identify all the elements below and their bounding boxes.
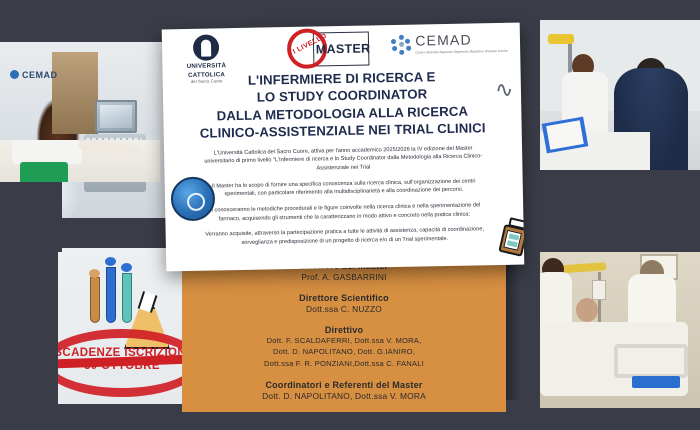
lab-bottom-band [58,404,186,430]
spacer [192,369,496,375]
patient-head [576,298,598,322]
photo-hospital-ward [540,20,700,172]
right-bottom-band [538,408,700,430]
arm-shape [77,140,140,158]
top-letterbox-band [0,0,700,20]
section-name-direttivo-1: Dott. F. SCALDAFERRI, Dott.ssa V. MORA, [192,336,496,346]
ward-equipment-bar [548,34,574,44]
section-heading-coordinatori: Coordinatori e Referenti del Master [192,380,496,390]
master-flyer-card: UNIVERSITÀ CATTOLICA del Sacro Cuore I L… [162,23,525,272]
stamp-line-2: 30 OTTOBRE [58,360,183,373]
stamp-ellipse [58,329,183,397]
flyer-header: UNIVERSITÀ CATTOLICA del Sacro Cuore I L… [162,23,521,76]
photo-wall-panel [52,52,98,134]
flyer-body-text: L'Università Cattolica del Sacro Cuore, … [164,143,524,249]
section-heading-direttore-scientifico: Direttore Scientifico [192,293,496,303]
flyer-paragraph-4: Verranno acquisite, attraverso la partec… [200,225,490,248]
spacer [192,314,496,320]
cemad-name: CEMAD [415,32,472,49]
cemad-logo: CEMAD Centro Malattie Apparato Digerente… [391,32,508,55]
photo-green-scrubs [0,140,160,182]
universita-cattolica-logo: UNIVERSITÀ CATTOLICA del Sacro Cuore [178,34,235,84]
university-seal-icon [193,34,219,60]
screenshot-canvas: CEMAD [0,0,700,430]
orange-staff-panel: Direttore del Master Prof. A. GASBARRINI… [182,250,506,412]
university-subtitle: del Sacro Cuore [179,78,235,84]
photo-lab-illustration: SCADENZE ISCRIZIONI 30 OTTOBRE [58,245,183,405]
cemad-watermark: CEMAD [10,70,58,80]
cemad-wordmark: CEMAD Centro Malattie Apparato Digerente… [415,32,508,55]
stamp-line-1: SCADENZE ISCRIZIONI [58,347,183,360]
test-tube-amber [90,277,100,323]
master-stamp-badge: I LIVELLO MASTER [285,25,382,71]
section-heading-direttivo: Direttivo [192,325,496,335]
lab-coat-shape [12,140,82,164]
spacer [192,282,496,288]
master-stamp-word: MASTER [315,41,371,56]
orange-panel-shadow [506,250,520,400]
bed-rail [614,344,688,378]
section-name-direttivo-3: Dott.ssa F. R. PONZIANI,Dott.ssa C. FANA… [192,359,496,369]
flyer-paragraph-3: Si conosceranno le metodiche procedurali… [199,201,489,224]
dna-helix-icon: ∿ [495,79,514,125]
test-tube-dropper-amber [89,269,100,278]
right-dark-band [538,170,700,252]
cemad-subtitle: Centro Malattie Apparato Digerente Diges… [415,50,508,55]
section-name-direttore-master: Prof. A. GASBARRINI [192,272,496,282]
cemad-mark-icon [391,34,411,54]
section-name-coordinatori: Dott. D. NAPOLITANO, Dott.ssa V. MORA [192,391,496,401]
flyer-paragraph-2: Il Master ha lo scopo di fornire una spe… [199,177,489,200]
section-name-direttore-scientifico: Dott.ssa C. NUZZO [192,304,496,314]
cemad-watermark-dot [10,70,19,79]
flyer-paragraph-1: L'Università Cattolica del Sacro Cuore, … [198,144,488,176]
cemad-watermark-text: CEMAD [22,70,58,80]
test-tube-blue [106,267,116,323]
orange-panel-content: Direttore del Master Prof. A. GASBARRINI… [182,250,506,401]
test-tube-dropper-teal [121,263,132,272]
green-scrubs-shape [20,162,68,182]
left-dark-band-b [0,218,182,248]
ultrasound-monitor [95,100,137,133]
stamp-text: SCADENZE ISCRIZIONI 30 OTTOBRE [58,347,183,373]
university-name-line-1: UNIVERSITÀ [178,62,234,70]
bed-blue-panel [632,376,680,388]
deadline-stamp: SCADENZE ISCRIZIONI 30 OTTOBRE [58,329,183,401]
section-name-direttivo-2: Dott. D. NAPOLITANO, Dott. G.IANIRO, [192,347,496,357]
left-dark-band-c [0,248,58,430]
iv-bag [592,280,606,300]
test-tube-dropper-blue [105,257,116,266]
photo-bedside-consult [540,250,700,410]
